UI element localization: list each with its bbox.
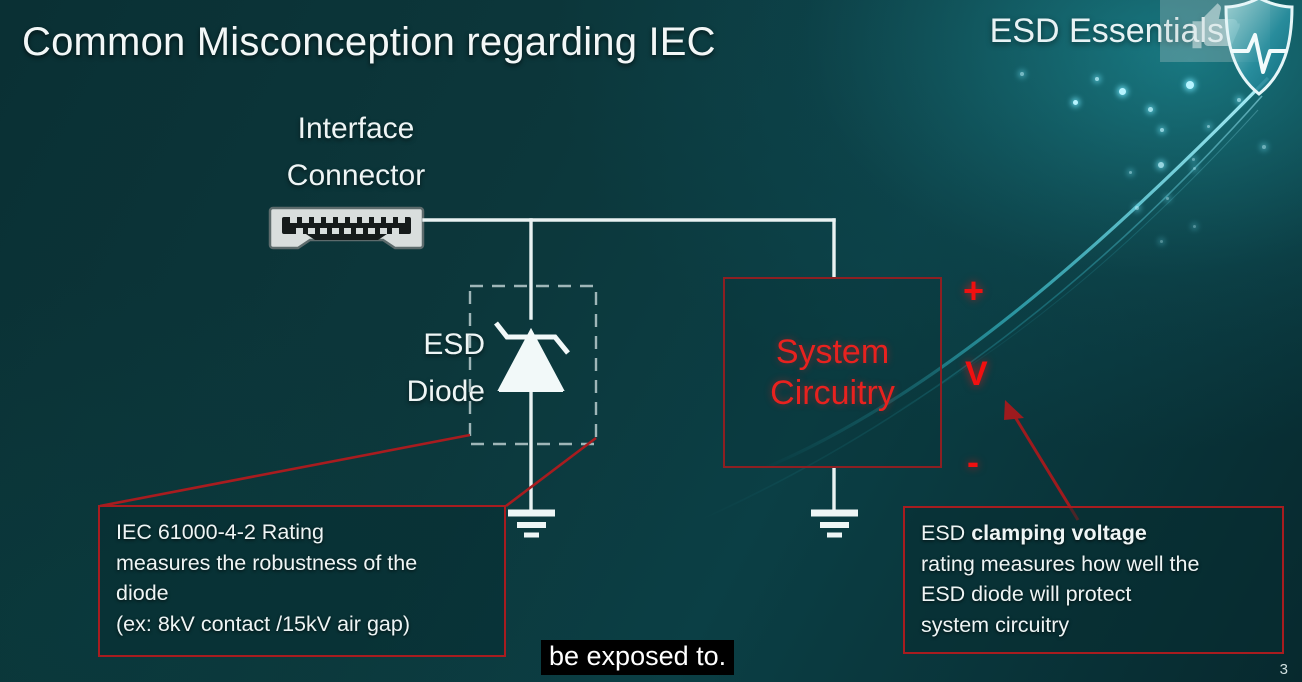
- callout-right-line1-bold: clamping voltage: [971, 521, 1147, 545]
- callout-leader-left: [100, 435, 596, 506]
- voltage-plus-marker: +: [963, 270, 984, 312]
- callout-right-line4: system circuitry: [921, 610, 1268, 641]
- voltage-v-marker: V: [965, 355, 988, 394]
- callout-left-line4: (ex: 8kV contact /15kV air gap): [116, 609, 490, 640]
- callout-right-line1: ESD clamping voltage: [921, 518, 1268, 549]
- callout-left-line2: measures the robustness of the: [116, 548, 490, 579]
- callout-right-line2: rating measures how well the: [921, 549, 1268, 580]
- callout-right-line1-prefix: ESD: [921, 521, 971, 545]
- callout-box-left: IEC 61000-4-2 Rating measures the robust…: [98, 505, 506, 657]
- callout-left-line3: diode: [116, 578, 490, 609]
- voltage-minus-marker: -: [967, 441, 979, 483]
- callout-left-line1: IEC 61000-4-2 Rating: [116, 517, 490, 548]
- callout-leader-right-arrow: [1004, 400, 1078, 520]
- system-circuitry-line1: System: [776, 332, 889, 372]
- callout-box-right: ESD clamping voltage rating measures how…: [903, 506, 1284, 654]
- callout-right-line3: ESD diode will protect: [921, 579, 1268, 610]
- slide-canvas: Common Misconception regarding IEC ESD E…: [0, 0, 1302, 682]
- zener-diode-symbol: [496, 323, 568, 390]
- video-caption: be exposed to.: [541, 640, 734, 675]
- ground-symbol-left: [508, 513, 555, 535]
- system-circuitry-line2: Circuitry: [770, 373, 895, 413]
- page-number: 3: [1280, 661, 1288, 678]
- system-circuitry-box: System Circuitry: [723, 277, 942, 468]
- ground-symbol-right: [811, 513, 858, 535]
